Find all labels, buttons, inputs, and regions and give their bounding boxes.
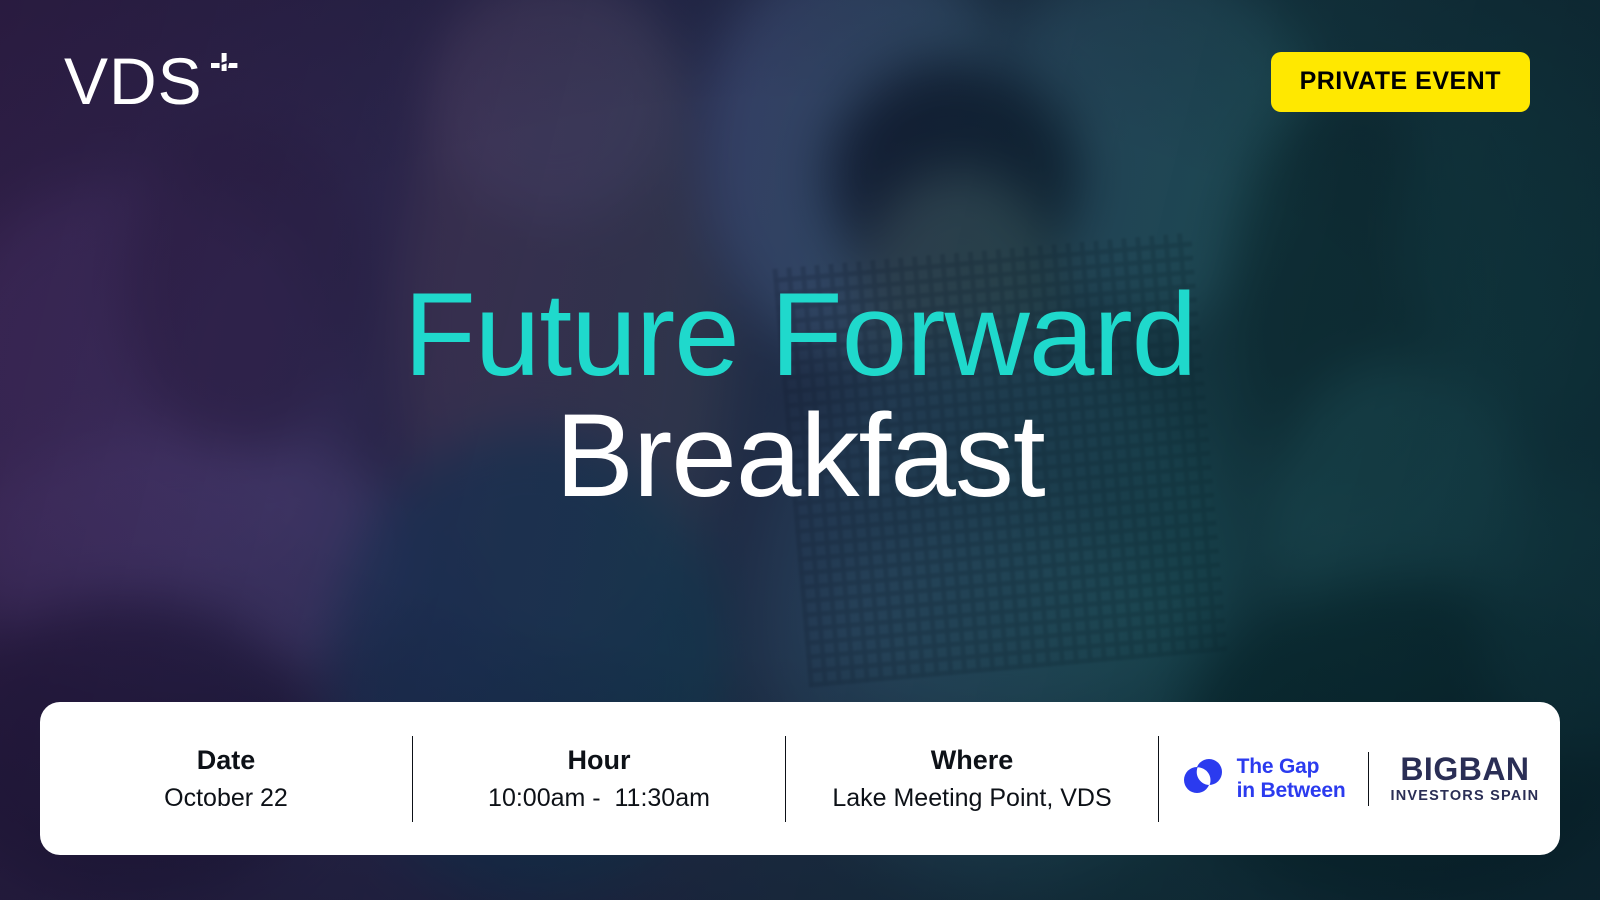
cross-plus-icon <box>207 50 241 89</box>
info-column-hour: Hour 10:00am - 11:30am <box>413 702 785 855</box>
info-label-hour: Hour <box>568 744 631 776</box>
partner-name-line-1: The Gap <box>1237 755 1346 779</box>
event-banner: VDS PRIVATE EVENT Future Forward Breakfa… <box>0 0 1600 900</box>
partner-logo-the-gap-in-between[interactable]: The Gap in Between <box>1180 753 1346 804</box>
vds-logo[interactable]: VDS <box>64 48 241 114</box>
partner-logo-bigban[interactable]: BIGBAN INVESTORS SPAIN <box>1391 753 1540 804</box>
event-info-card: Date October 22 Hour 10:00am - 11:30am W… <box>40 702 1560 855</box>
partner-name-line-2: in Between <box>1237 779 1346 803</box>
page-title: Future Forward Breakfast <box>0 272 1600 521</box>
info-value-date: October 22 <box>164 783 288 813</box>
partner-name-bigban: BIGBAN <box>1400 753 1529 785</box>
vds-logo-text: VDS <box>64 48 203 114</box>
info-label-date: Date <box>197 744 256 776</box>
info-label-where: Where <box>931 744 1014 776</box>
partner-divider <box>1368 752 1369 806</box>
headline-line-2: Breakfast <box>0 393 1600 520</box>
overlapping-circles-icon <box>1180 753 1226 804</box>
info-value-where: Lake Meeting Point, VDS <box>832 783 1111 813</box>
headline-line-1: Future Forward <box>0 272 1600 399</box>
info-column-date: Date October 22 <box>40 702 412 855</box>
private-event-badge[interactable]: PRIVATE EVENT <box>1271 52 1530 112</box>
partner-subtitle-bigban: INVESTORS SPAIN <box>1391 789 1540 804</box>
info-value-hour: 10:00am - 11:30am <box>488 783 710 813</box>
partner-logos: The Gap in Between BIGBAN INVESTORS SPAI… <box>1159 702 1560 855</box>
info-column-where: Where Lake Meeting Point, VDS <box>786 702 1158 855</box>
